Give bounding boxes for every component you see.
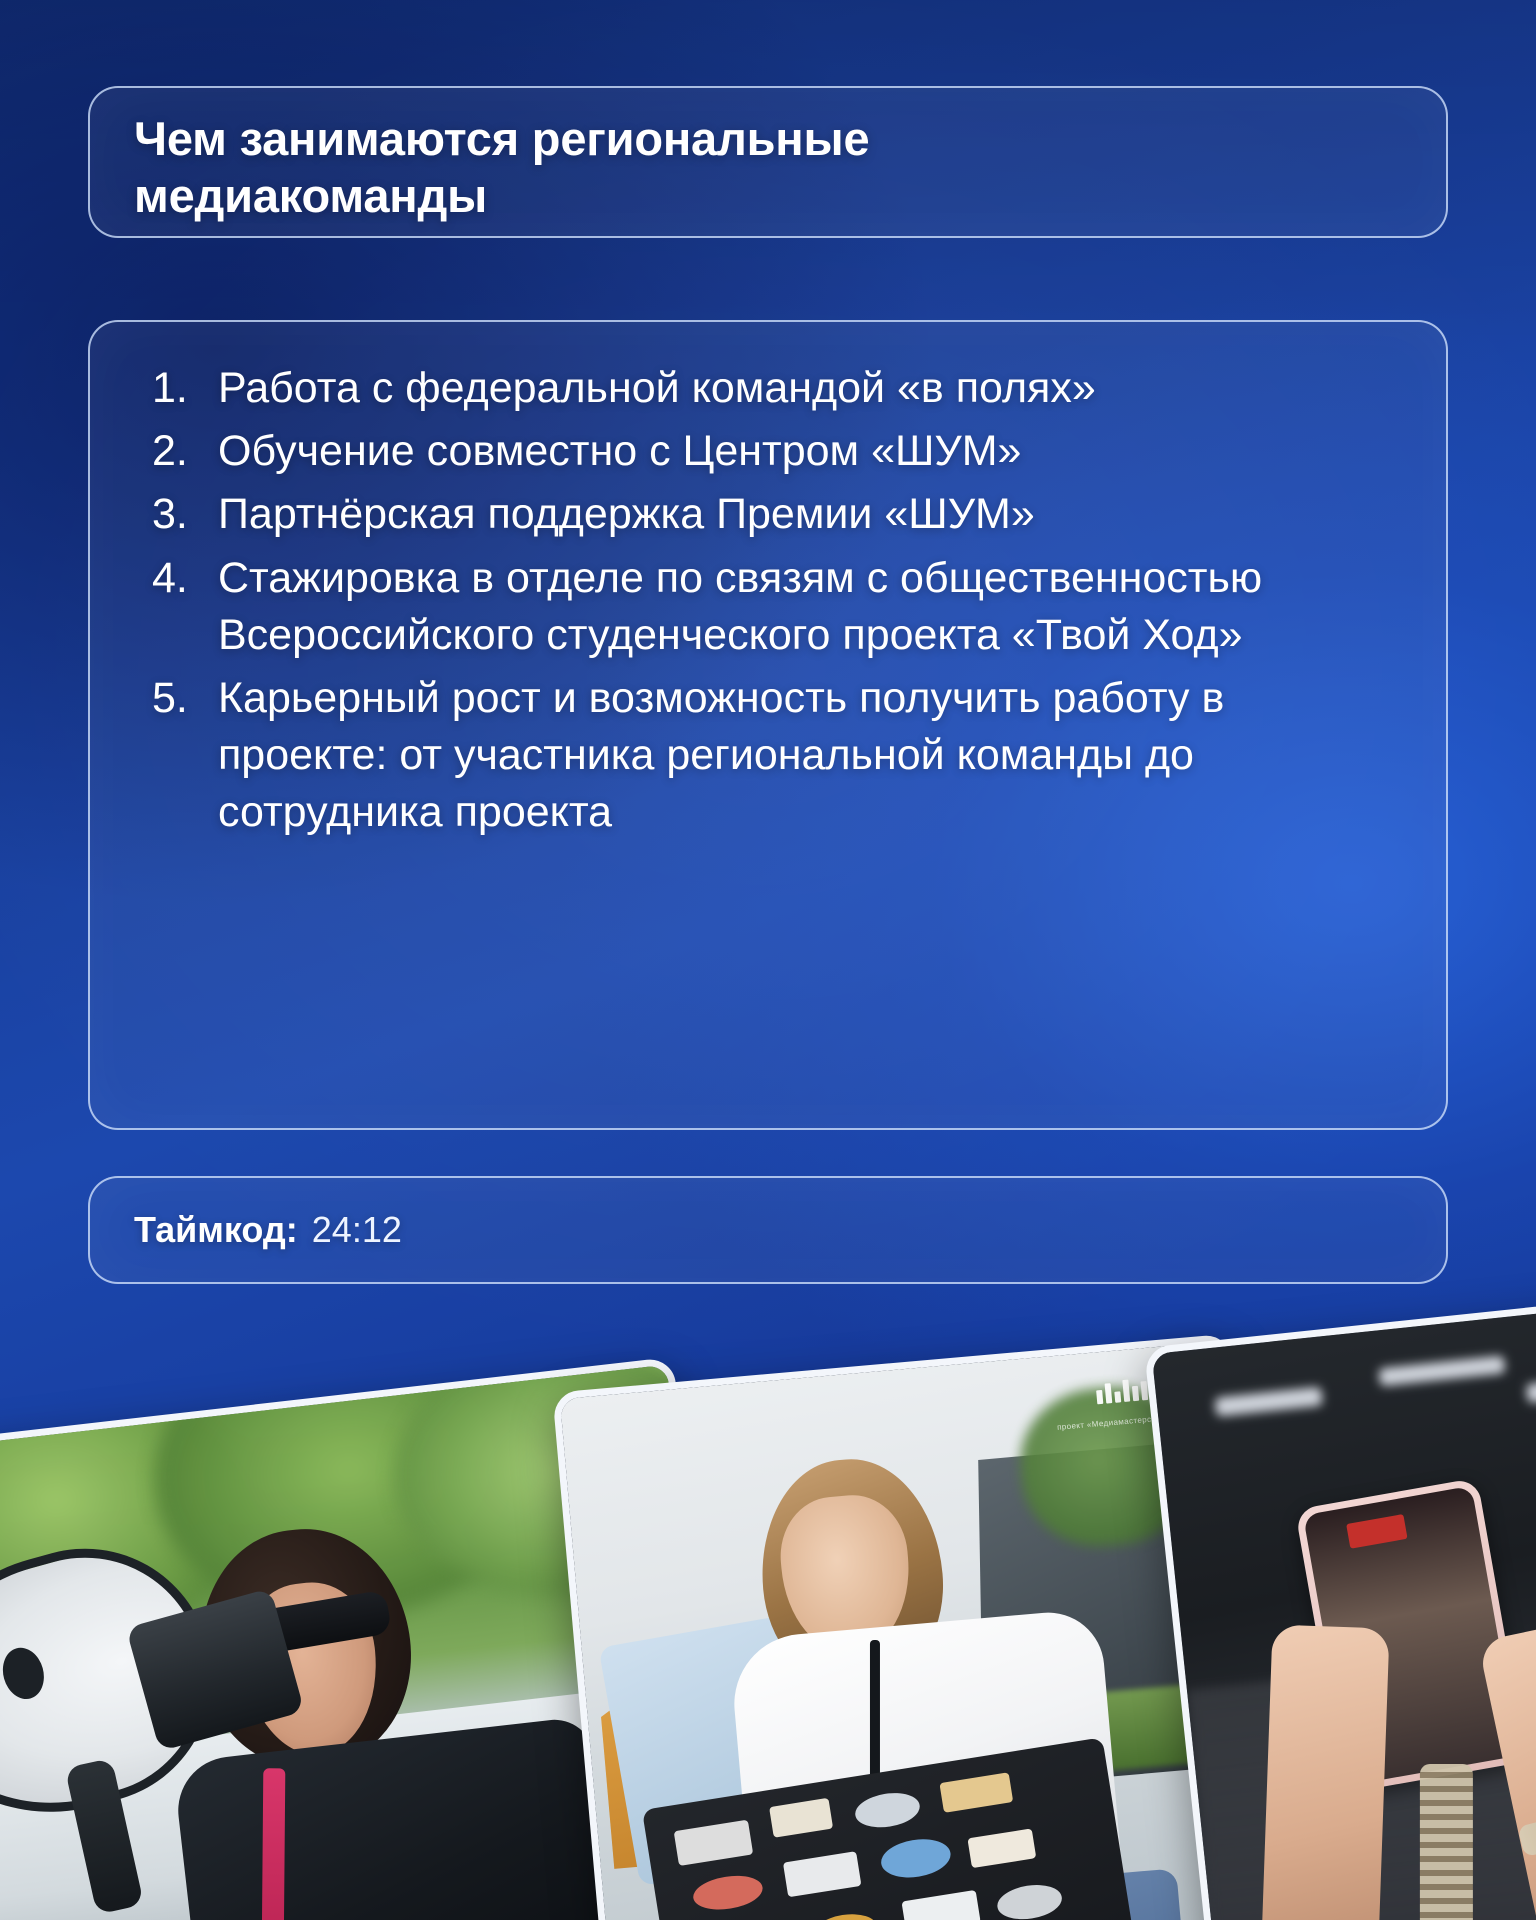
laptop-sticker (995, 1881, 1065, 1920)
phone-photo-scene (1152, 1303, 1536, 1920)
photo-collage: проект «Медиамастерская» (0, 1360, 1536, 1920)
ceiling-light (1215, 1387, 1323, 1417)
page-title: Чем занимаются региональные медиакоманды (134, 110, 1402, 225)
list-item: Работа с федеральной командой «в полях» (134, 360, 1402, 417)
laptop-sticker (811, 1910, 881, 1920)
ceiling-light (1526, 1375, 1536, 1403)
phone-photo (1144, 1296, 1536, 1920)
slide-canvas: Чем занимаются региональные медиакоманды… (0, 0, 1536, 1920)
laptop-sticker (879, 1834, 954, 1882)
laptop-sticker (940, 1772, 1014, 1813)
lanyard-strap (262, 1768, 286, 1920)
numbered-list: Работа с федеральной командой «в полях» … (134, 360, 1402, 842)
laptop-sticker (783, 1851, 862, 1897)
laptop-sticker (968, 1828, 1037, 1868)
timecode-label: Таймкод: (134, 1209, 298, 1251)
list-item: Партнёрская поддержка Премии «ШУМ» (134, 486, 1402, 543)
laptop-sticker (691, 1871, 765, 1914)
hand-left (1261, 1624, 1389, 1920)
ceiling-light (1378, 1355, 1506, 1387)
laptop-sticker (902, 1890, 981, 1920)
timecode-card: Таймкод: 24:12 (88, 1176, 1448, 1284)
list-item: Карьерный рост и возможность получить ра… (134, 670, 1402, 842)
timecode-value: 24:12 (312, 1209, 402, 1251)
list-item: Обучение совместно с Центром «ШУМ» (134, 423, 1402, 480)
list-item: Стажировка в отделе по связям с обществе… (134, 550, 1402, 664)
laptop-sticker (853, 1789, 923, 1832)
laptop-sticker (769, 1798, 834, 1838)
numbered-list-card: Работа с федеральной командой «в полях» … (88, 320, 1448, 1130)
laptop-sticker (674, 1820, 753, 1866)
title-card: Чем занимаются региональные медиакоманды (88, 86, 1448, 238)
shum-logo-icon (1096, 1378, 1149, 1404)
chain-strap (1420, 1764, 1473, 1920)
record-indicator-icon (1346, 1514, 1407, 1548)
